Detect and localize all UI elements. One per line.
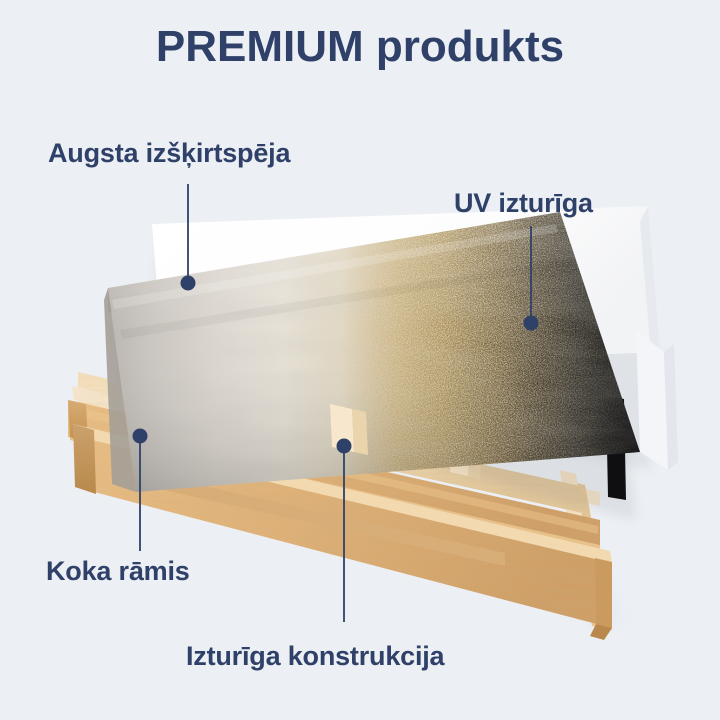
page-title: PREMIUM produkts: [0, 24, 720, 70]
leader-line-dot-construction: [337, 439, 352, 454]
leader-line-dot-uv: [524, 316, 539, 331]
leader-line-dot-resolution: [181, 276, 196, 291]
callout-label-resolution: Augsta izšķirtspēja: [48, 140, 290, 167]
exploded-product-diagram: [0, 0, 720, 720]
product-illustration-canvas: PREMIUM produkts Augsta izšķirtspēja UV …: [0, 0, 720, 720]
leader-line-dot-frame: [133, 429, 148, 444]
callout-label-construction: Izturīga konstrukcija: [186, 643, 444, 670]
callout-label-frame: Koka rāmis: [46, 558, 190, 585]
callout-label-uv: UV izturīga: [454, 190, 593, 217]
